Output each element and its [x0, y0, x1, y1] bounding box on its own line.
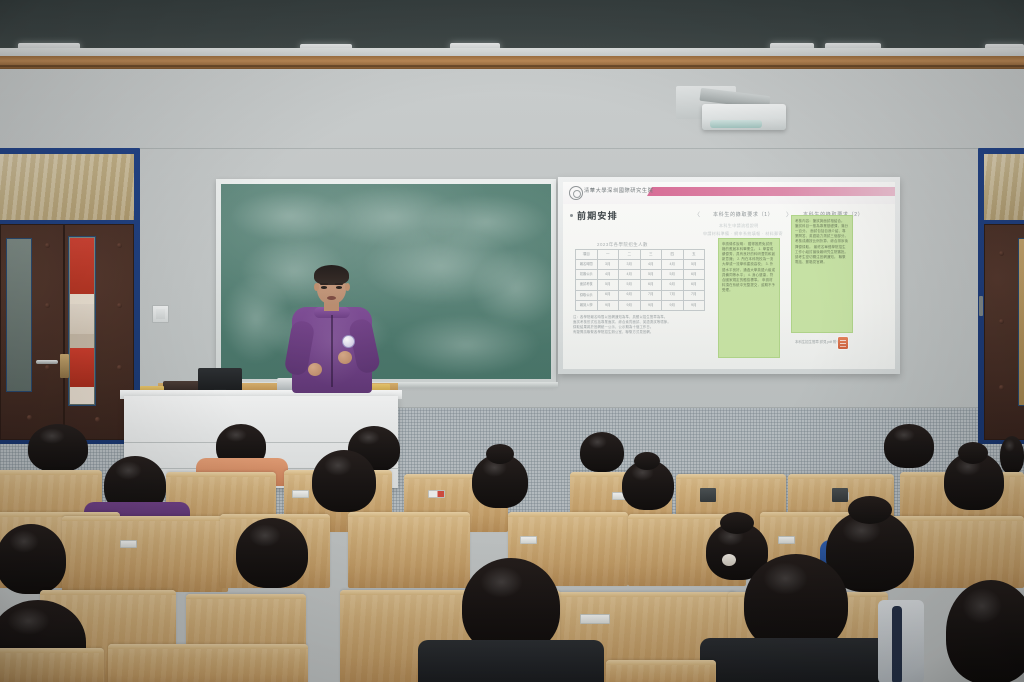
table-cell: 7月: [683, 290, 705, 300]
door-left[interactable]: [0, 148, 140, 444]
slide-title: 前期安排: [577, 209, 618, 222]
table-cell: 6月: [683, 270, 705, 280]
university-logo-text: 清華大學深圳國際研究生院: [584, 187, 653, 194]
table-row-label: 報到入學: [576, 300, 598, 310]
student-head: [28, 424, 88, 472]
light-switch[interactable]: [152, 305, 169, 323]
table-header-row: 項目 一 二 三 四 五: [576, 250, 705, 260]
table-header-cell: 二: [619, 250, 641, 260]
table-cell: 4月: [619, 270, 641, 280]
table-row: 錄取公示 6月 6月 7月 7月 7月: [576, 290, 705, 300]
lecturer-mouth: [327, 296, 336, 300]
table-cell: 7月: [662, 290, 684, 300]
chair-label: [120, 540, 137, 548]
table-cell: 4月: [640, 260, 662, 270]
column-arrow-left: 〈: [694, 210, 700, 219]
table-cell: 4月: [662, 260, 684, 270]
table-header-cell: 五: [683, 250, 705, 260]
chair-back[interactable]: [108, 644, 308, 682]
student-head: [312, 450, 376, 512]
student-head: [884, 424, 934, 468]
table-row-label: 錄取公示: [576, 290, 598, 300]
table-note-line: 有疑問請聯繫各學院招生辦公室，聯繫方式見官網。: [573, 330, 713, 335]
chalkboard-surface: [221, 184, 551, 379]
table-cell: 9月: [662, 300, 684, 310]
chair-side-panel: [700, 488, 716, 502]
door-lock-plate-left[interactable]: [60, 354, 69, 378]
table-header-cell: 三: [640, 250, 662, 260]
fire-safety-poster: [70, 238, 94, 404]
lecturer-ear: [314, 283, 319, 291]
slide-ribbon: [647, 187, 895, 196]
student-jacket-stripe: [892, 606, 902, 682]
table-cell: 9月: [683, 300, 705, 310]
student-shoulders: [700, 638, 896, 682]
door-handle-left[interactable]: [36, 360, 58, 364]
student-head: [1000, 436, 1024, 474]
door-window-left-a: [6, 238, 32, 392]
table-cell: 9月: [597, 300, 619, 310]
slide-note-box-right: 考核內容：筆試與面試相結合。 筆試科目一般為專業基礎課，滿分一百分。 面試包括自…: [791, 215, 853, 333]
door-window-right: [1018, 238, 1024, 406]
slide-subline-2: 申請材料準備 · 網申系統填報 · 材料郵寄: [703, 231, 783, 237]
table-cell: 6月: [662, 280, 684, 290]
door-window-left-b: [68, 236, 96, 406]
chair-back[interactable]: [62, 516, 228, 592]
table-cell: 6月: [640, 280, 662, 290]
table-cell: 9月: [640, 300, 662, 310]
door-right[interactable]: [978, 148, 1024, 444]
university-logo-icon: [569, 186, 583, 200]
table-cell: 4月: [597, 270, 619, 280]
table-cell: 6月: [683, 280, 705, 290]
table-caption: 2023年各學院招生人數: [597, 242, 648, 248]
chair-label: [292, 490, 309, 498]
table-cell: 3月: [597, 260, 619, 270]
door-transom-right: [984, 154, 1024, 220]
student-hair-bun: [958, 442, 988, 464]
student-head: [0, 524, 66, 594]
chalkboard: [216, 179, 556, 384]
table-row-label: 初審公示: [576, 270, 598, 280]
pdf-file-icon[interactable]: [838, 337, 848, 349]
lecturer: [286, 263, 378, 395]
table-cell: 5月: [619, 280, 641, 290]
table-header-cell: 項目: [576, 250, 598, 260]
student-head-foreground: [946, 580, 1024, 682]
title-bullet-icon: [570, 214, 573, 217]
ceiling-wood-trim: [0, 56, 1024, 70]
lecturer-badge: [342, 335, 355, 348]
table-row: 面試考核 5月 5月 6月 6月 6月: [576, 280, 705, 290]
lecturer-eye: [336, 286, 342, 289]
student-head: [236, 518, 308, 588]
lecturer-eyebrow: [335, 283, 343, 285]
lecturer-hand-left: [308, 363, 322, 376]
table-row: 初審公示 4月 4月 5月 5月 6月: [576, 270, 705, 280]
table-cell: 5月: [597, 280, 619, 290]
lecturer-ear: [345, 283, 350, 291]
lecturer-hair: [314, 265, 349, 285]
column-header-1: 本科生的錄取要求（1）: [713, 211, 773, 218]
lecturer-zipper: [331, 315, 333, 387]
table-header-cell: 一: [597, 250, 619, 260]
table-cell: 5月: [662, 270, 684, 280]
table-row: 報到入學 9月 9月 9月 9月 9月: [576, 300, 705, 310]
table-cell: 5月: [683, 260, 705, 270]
slide-subline-1: 本科生申請流程說明: [719, 223, 759, 229]
slide-note-box-left: 申請條件說明： 獲得推薦免試資格的應屆本科畢業生。 1. 學習成績優秀，具有良好…: [718, 238, 780, 358]
table-cell: 6月: [597, 290, 619, 300]
table-cell: 9月: [619, 300, 641, 310]
student-head: [580, 432, 624, 472]
slide-table: 項目 一 二 三 四 五 報名時間 3月 3月 4月 4月 5月 初審公示: [575, 249, 705, 311]
projector-lens: [710, 120, 762, 128]
chair-label: [428, 490, 445, 498]
table-header-cell: 四: [662, 250, 684, 260]
table-cell: 3月: [619, 260, 641, 270]
lecturer-hand-right: [338, 351, 352, 364]
student-hair-bun: [634, 452, 660, 470]
chair-back[interactable]: [0, 648, 104, 682]
lecturer-eye: [321, 286, 327, 289]
chair-label: [580, 614, 610, 624]
table-notes: 注：各學院報名時間以官網通知為準，具體以招生簡章為準。 面試考核形式包括專業面試…: [573, 315, 713, 335]
chair-back[interactable]: [606, 660, 716, 682]
table-row-label: 報名時間: [576, 260, 598, 270]
chair-back[interactable]: [348, 512, 470, 588]
chair-label: [778, 536, 795, 544]
table-cell: 7月: [640, 290, 662, 300]
slide-footer-note: 本科生招生簡章 詳見 pdf 附件: [795, 340, 840, 345]
table-row-label: 面試考核: [576, 280, 598, 290]
student-hair-bun: [848, 496, 892, 524]
table-cell: 6月: [619, 290, 641, 300]
student-hair-bun: [486, 444, 514, 464]
door-lock-plate-right[interactable]: [979, 296, 983, 316]
projection-screen: 清華大學深圳國際研究生院 前期安排 〈 本科生的錄取要求（1） 〉 本科生的錄取…: [558, 177, 900, 374]
slide-content: 清華大學深圳國際研究生院 前期安排 〈 本科生的錄取要求（1） 〉 本科生的錄取…: [563, 182, 895, 369]
lecturer-eyebrow: [320, 283, 328, 285]
table-row: 報名時間 3月 3月 4月 4月 5月: [576, 260, 705, 270]
door-transom-left: [0, 154, 134, 220]
classroom-photo: 清華大學深圳國際研究生院 前期安排 〈 本科生的錄取要求（1） 〉 本科生的錄取…: [0, 0, 1024, 682]
chair-label: [520, 536, 537, 544]
student-shoulders: [418, 640, 604, 682]
chair-side-panel: [832, 488, 848, 502]
wall-seam: [0, 148, 1024, 149]
student-hair-bun: [720, 512, 754, 534]
projector-icon: [702, 104, 786, 130]
table-cell: 5月: [640, 270, 662, 280]
hair-tie: [722, 554, 736, 566]
